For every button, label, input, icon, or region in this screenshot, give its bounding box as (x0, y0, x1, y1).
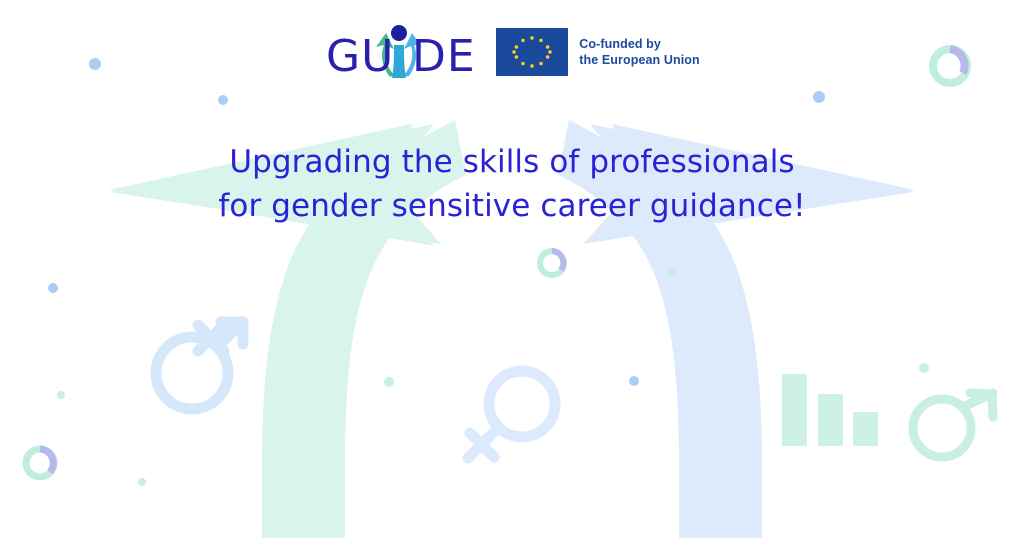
eu-text-line1: Co-funded by (579, 36, 700, 53)
male-female-symbol-left (156, 322, 243, 409)
dot-4 (48, 283, 58, 293)
guide-logo: GU DE (324, 21, 474, 83)
headline-line-2: for gender sensitive career guidance! (0, 184, 1024, 228)
eu-funding-badge: Co-funded by the European Union (496, 28, 700, 76)
dot-8 (667, 267, 677, 277)
svg-text:DE: DE (412, 31, 474, 82)
guide-project-banner: GU DE (0, 0, 1024, 538)
ring-center (540, 251, 564, 275)
bar-chart-decor (782, 374, 878, 446)
male-symbol-right (913, 393, 993, 457)
dot-6 (384, 377, 394, 387)
svg-text:GU: GU (326, 31, 394, 82)
dot-5 (57, 391, 65, 399)
header-logo-row: GU DE (0, 14, 1024, 90)
headline-line-1: Upgrading the skills of professionals (0, 140, 1024, 184)
dot-7 (629, 376, 639, 386)
eu-flag-icon (496, 28, 568, 76)
eu-text-line2: the European Union (579, 52, 700, 69)
female-symbol-center (468, 371, 555, 458)
ring-bottom-left (26, 449, 54, 477)
dot-10 (919, 363, 929, 373)
eu-funding-text: Co-funded by the European Union (579, 36, 700, 69)
dot-9 (138, 478, 146, 486)
headline: Upgrading the skills of professionals fo… (0, 140, 1024, 228)
dot-3 (813, 91, 825, 103)
dot-2 (218, 95, 228, 105)
